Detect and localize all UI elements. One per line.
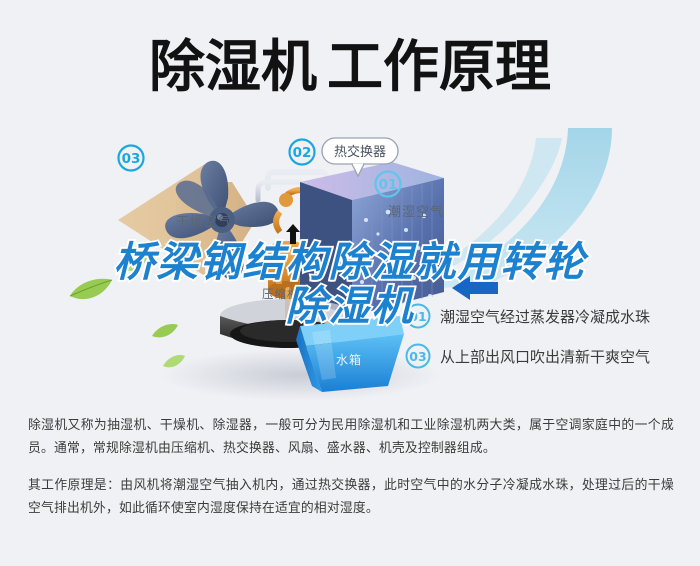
badge-02-text: 02	[293, 145, 312, 161]
badge-03-left-text: 03	[122, 151, 141, 167]
poster-root: 除湿机工作原理	[0, 0, 700, 566]
leaf-decorations	[70, 258, 185, 368]
heat-exchanger	[300, 162, 444, 316]
step-01-badge: 01	[409, 309, 426, 324]
label-compressor: 压缩机	[262, 287, 300, 301]
body-paragraph-2: 其工作原理是：由风机将潮湿空气抽入机内，通过热交换器，此时空气中的水分子冷凝成水…	[28, 474, 674, 520]
step-03-row: 03 从上部出风口吹出清新干爽空气	[407, 345, 651, 368]
body-copy: 除湿机又称为抽湿机、干燥机、除湿器，一般可分为民用除湿机和工业除湿机两大类，属于…	[28, 414, 674, 520]
label-water-tank: 水箱	[336, 352, 362, 367]
badge-03-left: 03	[119, 146, 144, 171]
label-dry-air: 干燥空气	[176, 214, 232, 230]
step-03-badge: 03	[409, 349, 426, 364]
body-paragraph-1: 除湿机又称为抽湿机、干燥机、除湿器，一般可分为民用除湿机和工业除湿机两大类，属于…	[28, 414, 674, 460]
title-part-one: 除湿机	[149, 35, 317, 100]
step-01-text: 潮湿空气经过蒸发器冷凝成水珠	[440, 308, 650, 326]
label-moist-air: 潮湿空气	[388, 204, 444, 220]
ground-shadow	[160, 349, 440, 400]
badge-02: 02	[290, 140, 315, 165]
dehumidifier-diagram: 03 干燥空气 02 热交换器 01 潮湿空气 压缩机	[0, 120, 700, 400]
step-01-row: 01 潮湿空气经过蒸发器冷凝成水珠	[407, 305, 651, 328]
page-title: 除湿机工作原理	[0, 28, 700, 108]
badge-01-text: 01	[379, 177, 398, 193]
title-part-two: 工作原理	[327, 35, 551, 100]
callout-heat-exchanger-text: 热交换器	[334, 144, 386, 160]
step-03-text: 从上部出风口吹出清新干爽空气	[440, 348, 650, 366]
